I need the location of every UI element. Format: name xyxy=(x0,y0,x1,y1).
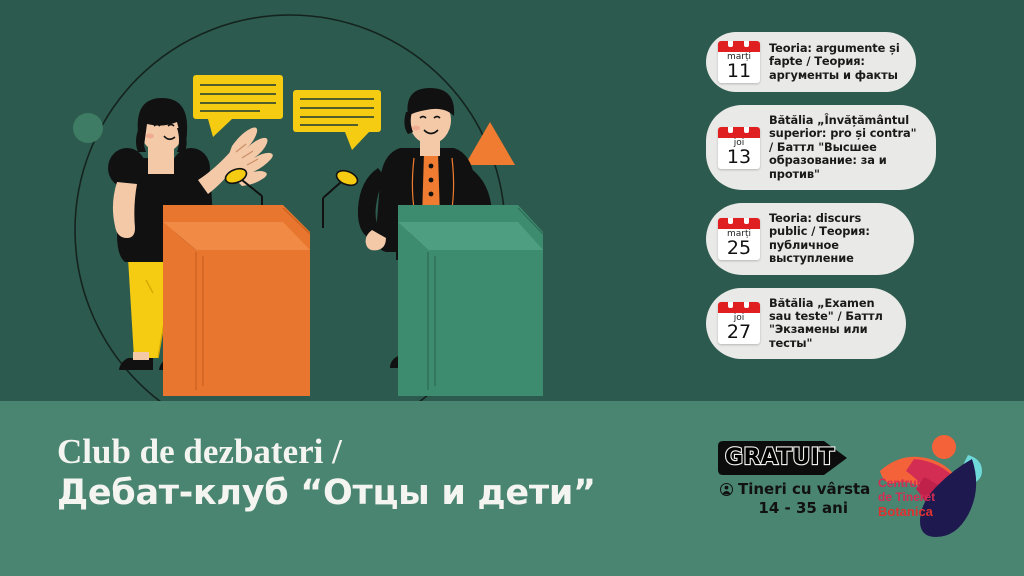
calendar-icon: joi 13 xyxy=(718,127,760,169)
microphone-right xyxy=(323,168,360,228)
logo-sun xyxy=(932,435,956,459)
person-icon xyxy=(720,483,733,496)
podium-right xyxy=(398,205,543,396)
poster-title: Club de dezbateri / Дебат-клуб “Отцы и д… xyxy=(57,431,677,515)
calendar-day: 11 xyxy=(718,61,760,82)
podium-left xyxy=(163,205,310,396)
schedule-card[interactable]: joi 27 Bătălia „Examen sau teste" / Батт… xyxy=(706,288,906,360)
calendar-icon: marți 25 xyxy=(718,218,760,260)
title-russian: Дебат-клуб “Отцы и дети” xyxy=(57,472,677,515)
title-romanian: Club de dezbateri / xyxy=(57,431,677,472)
calendar-icon: marți 11 xyxy=(718,41,760,83)
speech-bubble-right xyxy=(293,90,381,150)
schedule-card[interactable]: joi 13 Bătălia „Învățământul superior: p… xyxy=(706,105,936,190)
speech-bubble-left xyxy=(193,75,283,137)
logo-line-1: Centrul xyxy=(878,476,920,490)
logo-line-3: Botanica xyxy=(878,504,934,519)
logo-line-2: de Tineret xyxy=(878,490,935,504)
schedule-card-text: Teoria: argumente și fapte / Теория: арг… xyxy=(769,42,900,82)
age-line-2: 14 - 35 ani xyxy=(716,500,848,517)
debate-illustration xyxy=(0,0,700,401)
poster: marți 11 Teoria: argumente și fapte / Те… xyxy=(0,0,1024,576)
gratuit-badge: GRATUIT Tineri cu vârsta 14 - 35 ani xyxy=(716,441,876,517)
schedule-card-text: Teoria: discurs public / Теория: публичн… xyxy=(769,212,898,266)
calendar-icon: joi 27 xyxy=(718,302,760,344)
gratuit-arrow-tag: GRATUIT xyxy=(716,441,848,475)
schedule-card-text: Bătălia „Examen sau teste" / Баттл "Экза… xyxy=(769,297,890,351)
calendar-day: 27 xyxy=(718,322,760,343)
schedule-card[interactable]: marți 25 Teoria: discurs public / Теория… xyxy=(706,203,914,275)
calendar-day: 25 xyxy=(718,238,760,259)
age-line-1: Tineri cu vârsta xyxy=(738,481,870,498)
schedule-card[interactable]: marți 11 Teoria: argumente și fapte / Те… xyxy=(706,32,916,92)
calendar-day: 13 xyxy=(718,147,760,168)
age-line-1-row: Tineri cu vârsta xyxy=(720,481,876,498)
schedule-card-text: Bătălia „Învățământul superior: pro și c… xyxy=(769,114,920,181)
orange-triangle-decor xyxy=(465,122,515,165)
green-dot-decor xyxy=(73,113,103,143)
gratuit-label: GRATUIT xyxy=(725,446,835,470)
schedule-list: marți 11 Teoria: argumente și fapte / Те… xyxy=(706,32,1006,372)
centrul-de-tineret-botanica-logo[interactable]: Centrul de Tineret Botanica xyxy=(868,425,988,545)
